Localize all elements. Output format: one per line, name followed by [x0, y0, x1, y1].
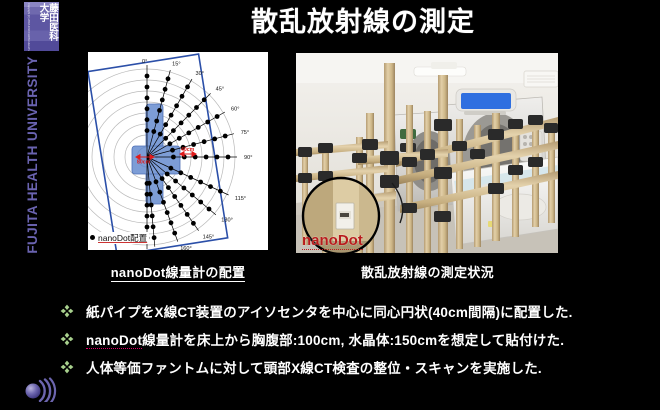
list-item: nanoDot線量計を床上から胸腹部:100cm, 水晶体:150cmを想定して…	[60, 328, 656, 356]
sound-wave-sphere-icon	[24, 374, 58, 402]
list-item: 人体等価ファントムに対して頭部X線CT検査の整位・スキャンを実施した.	[60, 356, 656, 384]
photo-inset-label-text: nanoDot	[302, 232, 363, 250]
svg-text:160°: 160°	[180, 246, 192, 250]
slide-root: Copyright (C) 2018-2019 FUJITA HEALTH UN…	[0, 0, 660, 410]
clover-diamond-bullet-icon	[60, 356, 86, 377]
sidebar: Copyright (C) 2018-2019 FUJITA HEALTH UN…	[0, 0, 66, 410]
sidebar-brand-en: FUJITA HEALTH UNIVERSITY	[26, 56, 40, 254]
svg-text:15°: 15°	[172, 61, 180, 67]
clover-diamond-bullet-icon	[60, 328, 86, 349]
polar-legend: nanoDot配置	[88, 232, 149, 244]
filled-circle-icon	[90, 235, 95, 240]
list-item-text-2: nanoDot線量計を床上から胸腹部:100cm, 水晶体:150cmを想定して…	[86, 328, 564, 350]
svg-text:115°: 115°	[235, 196, 246, 202]
svg-text:145°: 145°	[203, 235, 215, 241]
list-item-emphasis: nanoDot	[86, 333, 142, 349]
list-item-text: 人体等価ファントムに対して頭部X線CT検査の整位・スキャンを実施した.	[86, 356, 542, 378]
list-item-text: 紙パイプをX線CT装置のアイソセンタを中心に同心円状(40cm間隔)に配置した.	[86, 300, 573, 322]
sidebar-copyright: Copyright (C) 2018-2019 FUJITA HEALTH UN…	[26, 3, 29, 50]
sidebar-brand-plate: Copyright (C) 2018-2019 FUJITA HEALTH UN…	[24, 2, 59, 51]
svg-text:60°: 60°	[231, 107, 239, 113]
polar-legend-label: nanoDot配置	[98, 233, 147, 243]
svg-text:90°: 90°	[244, 155, 252, 161]
bullet-list: 紙パイプをX線CT装置のアイソセンタを中心に同心円状(40cm間隔)に配置した.…	[60, 300, 656, 384]
figure-caption-right: 散乱放射線の測定状況	[295, 262, 560, 281]
svg-text:45°: 45°	[216, 86, 224, 92]
list-item: 紙パイプをX線CT装置のアイソセンタを中心に同心円状(40cm間隔)に配置した.	[60, 300, 656, 328]
polar-dim-right: 40cm	[181, 147, 195, 153]
svg-text:75°: 75°	[241, 130, 249, 136]
figure-caption-left-text: nanoDot線量計の配置	[111, 265, 246, 282]
polar-diagram: 0°15°30°45°60°75°90°115°130°145°160°175°…	[88, 52, 268, 250]
svg-text:0°: 0°	[142, 59, 147, 65]
svg-text:130°: 130°	[221, 217, 233, 223]
sidebar-brand-jp: 藤田医科大学	[38, 3, 57, 49]
page-title: 散乱放射線の測定	[66, 6, 660, 38]
svg-text:30°: 30°	[196, 71, 204, 77]
figure-caption-left: nanoDot線量計の配置	[78, 262, 278, 281]
photo-inset-label: nanoDot	[302, 232, 363, 249]
polar-dim-left: 80cm	[137, 160, 151, 166]
clover-diamond-bullet-icon	[60, 300, 86, 321]
measurement-photo	[296, 53, 558, 253]
list-item-text-rest: 線量計を床上から胸腹部:100cm, 水晶体:150cmを想定して貼付けた.	[142, 333, 564, 348]
